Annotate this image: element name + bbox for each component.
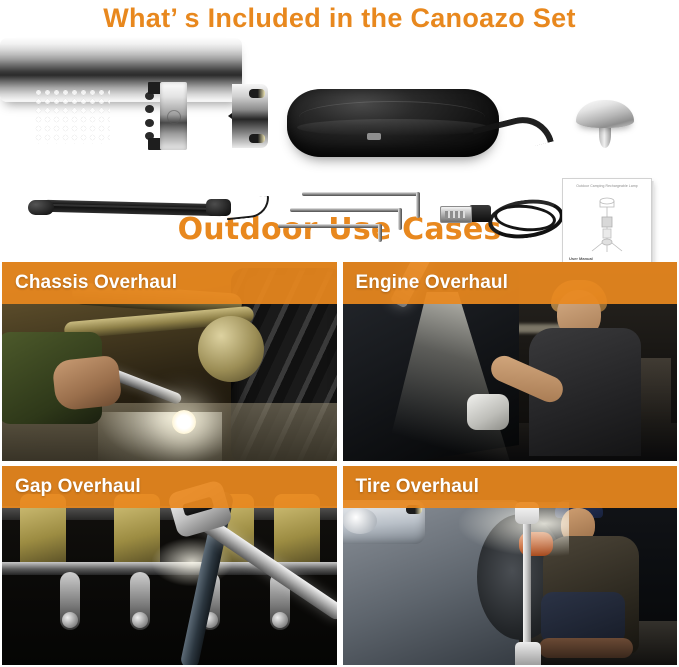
product-user-manual: Outdoor Camping Rechargeable Lamp User M… [562,178,652,275]
product-carry-case [287,89,499,157]
work-light-indicator-dots [143,92,155,140]
usb-plug [440,206,472,223]
panel-label-chassis: Chassis Overhaul [2,262,337,304]
use-case-panel-gap: Gap Overhaul [2,466,337,665]
product-lanyard [28,196,272,224]
product-work-light [0,38,242,102]
panel-label-text: Gap Overhaul [2,476,141,498]
lanyard-band [42,200,226,216]
work-light-head [232,84,268,148]
panel-label-gap: Gap Overhaul [2,466,337,508]
included-items-showcase: Outdoor Camping Rechargeable Lamp User M… [0,38,679,213]
work-light-grip-texture [34,88,110,144]
hook-cap [576,100,634,128]
product-usb-cable [440,196,556,236]
case-zipper [299,101,485,117]
usb-connector-boot [469,205,491,222]
use-case-panel-engine: Engine Overhaul [343,262,678,461]
manual-lamp-illustration [584,193,630,255]
panel-label-engine: Engine Overhaul [343,262,678,304]
page-title-included: What’ s Included in the Canoazo Set [0,0,679,32]
panel-label-tire: Tire Overhaul [343,466,678,508]
work-light-collar [160,82,187,150]
panel-label-text: Engine Overhaul [343,272,508,294]
product-hook-mount [576,100,634,152]
product-hex-keys [278,188,428,236]
use-case-panel-chassis: Chassis Overhaul [2,262,337,461]
manual-cover-title: Outdoor Camping Rechargeable Lamp [569,184,645,188]
use-case-grid: Chassis Overhaul Engine Overhaul [2,262,677,665]
case-seam [297,119,489,136]
case-zipper-pull [367,133,381,140]
use-case-panel-tire: Tire Overhaul [343,466,678,665]
lanyard-cord [225,196,271,220]
panel-label-text: Chassis Overhaul [2,272,177,294]
panel-label-text: Tire Overhaul [343,476,479,498]
lanyard-end-left [28,200,54,215]
